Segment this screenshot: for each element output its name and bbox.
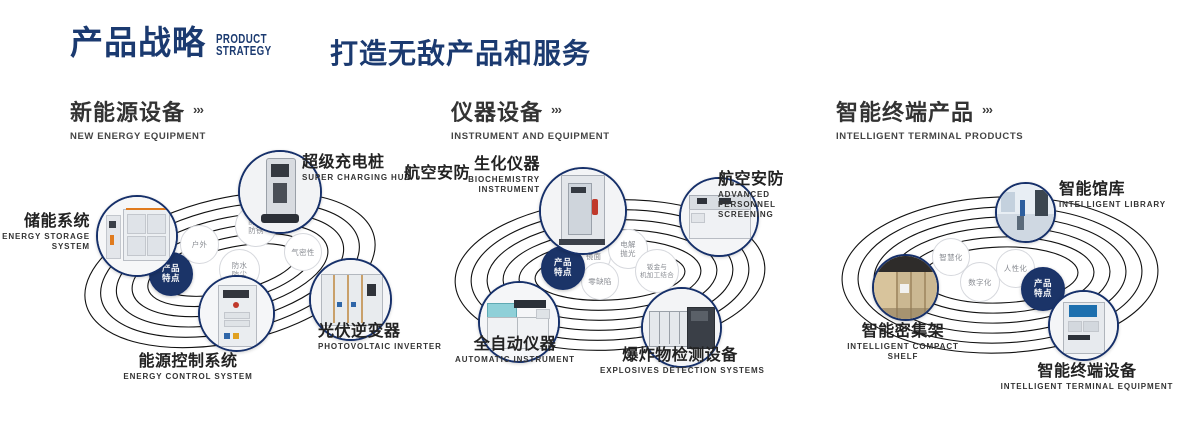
biochemistry-photo	[541, 169, 625, 253]
feature-bubble: 钣金与 机加工结合	[635, 249, 679, 293]
section-title-cn: 新能源设备	[70, 95, 185, 127]
node-intelligent-compact-shelf[interactable]	[872, 254, 939, 321]
library-photo	[997, 184, 1054, 241]
node-label-cn: 光伏逆变器	[318, 322, 442, 340]
label-super-charging-hub: 超级充电桩 SUPER CHARGING HUB	[302, 153, 411, 183]
node-label-en: AUTOMATIC INSTRUMENT	[425, 355, 605, 365]
page-subtitle: 打造无敌产品和服务	[330, 32, 591, 72]
node-label-cn: 智能密集架	[818, 322, 988, 340]
node-intelligent-terminal-equipment[interactable]	[1048, 290, 1119, 361]
feature-bubble-label: 智慧化	[939, 253, 962, 262]
feature-bubble-label: 数字化	[968, 278, 991, 287]
chevron-right-icon: ›››	[982, 102, 992, 117]
section-title-instrument: 仪器设备››› INSTRUMENT AND EQUIPMENT	[451, 95, 610, 142]
chevron-right-icon: ›››	[193, 102, 203, 117]
energy-control-photo	[200, 277, 273, 350]
section-title-cn: 仪器设备	[451, 95, 543, 127]
cluster-new-energy: 户外 防腐 防锈 气密性 防水 防尘 产品 特点 储能系统 ENERGY STO…	[55, 150, 405, 400]
label-intelligent-compact-shelf: 智能密集架 INTELLIGENT COMPACT SHELF	[818, 322, 988, 362]
page-title-en-line2: STRATEGY	[216, 44, 271, 58]
feature-bubble-label: 零缺陷	[588, 277, 611, 286]
feature-bubble: 数字化	[960, 262, 1000, 302]
label-energy-storage: 储能系统 ENERGY STORAGE SYSTEM	[0, 212, 90, 252]
label-automatic-instrument: 全自动仪器 AUTOMATIC INSTRUMENT	[425, 335, 605, 365]
label-advanced-personnel-screening: 航空安防 ADVANCED PERSONNEL SCREENING	[718, 170, 790, 220]
node-label-cn: 全自动仪器	[425, 335, 605, 353]
page-title-cn: 产品战略	[70, 26, 206, 59]
product-features-hub-label: 产品 特点	[554, 258, 572, 278]
node-label-en: INTELLIGENT TERMINAL EQUIPMENT	[987, 382, 1187, 392]
label-explosives-detection: 爆炸物检测设备 EXPLOSIVES DETECTION SYSTEMS	[600, 346, 760, 376]
section-title-new-energy: 新能源设备››› NEW ENERGY EQUIPMENT	[70, 95, 206, 142]
feature-bubble-label: 人性化	[1004, 264, 1027, 273]
label-aviation-security-aux: 航空安防	[400, 164, 470, 182]
node-label-en: SUPER CHARGING HUB	[302, 173, 411, 183]
feature-bubble-label: 钣金与 机加工结合	[640, 263, 674, 279]
cluster-instrument: 镜面 电解 抛光 钣金与 机加工结合 零缺陷 产品 特点 生化仪器 BIOCHE…	[430, 150, 790, 400]
compact-shelf-photo	[874, 256, 937, 319]
section-title-intelligent-terminal: 智能终端产品››› INTELLIGENT TERMINAL PRODUCTS	[836, 95, 1023, 142]
node-energy-storage[interactable]	[96, 195, 178, 277]
poster-canvas: 产品战略 PRODUCTSTRATEGY 打造无敌产品和服务 新能源设备››› …	[0, 0, 1200, 422]
node-label-cn: 智能馆库	[1059, 180, 1166, 198]
node-intelligent-library[interactable]	[995, 182, 1056, 243]
section-title-en: INTELLIGENT TERMINAL PRODUCTS	[836, 131, 1023, 142]
node-label-en: INTELLIGENT COMPACT SHELF	[818, 342, 988, 362]
node-label-en: ADVANCED PERSONNEL SCREENING	[718, 190, 790, 220]
label-intelligent-library: 智能馆库 INTELLIGENT LIBRARY	[1059, 180, 1166, 210]
chevron-right-icon: ›››	[551, 102, 561, 117]
node-label-cn: 航空安防	[718, 170, 790, 188]
label-intelligent-terminal-equipment: 智能终端设备 INTELLIGENT TERMINAL EQUIPMENT	[987, 362, 1187, 392]
label-photovoltaic-inverter: 光伏逆变器 PHOTOVOLTAIC INVERTER	[318, 322, 442, 352]
node-label-en: INTELLIGENT LIBRARY	[1059, 200, 1166, 210]
energy-storage-photo	[98, 197, 176, 275]
node-label-cn: 超级充电桩	[302, 153, 411, 171]
node-label-en: ENERGY STORAGE SYSTEM	[0, 232, 90, 252]
node-label-cn: 爆炸物检测设备	[600, 346, 760, 364]
node-label-en: PHOTOVOLTAIC INVERTER	[318, 342, 442, 352]
node-label-cn: 智能终端设备	[987, 362, 1187, 380]
feature-bubble-label: 户外	[192, 240, 208, 249]
node-label-en: ENERGY CONTROL SYSTEM	[88, 372, 288, 382]
aux-label-cn: 航空安防	[400, 164, 470, 182]
cluster-intelligent-terminal: 智慧化 数字化 人性化 产品 特点 智能馆库 INTELLIGENT LIBRA…	[815, 150, 1185, 400]
page-title: 产品战略 PRODUCTSTRATEGY	[70, 26, 287, 59]
node-label-cn: 能源控制系统	[88, 352, 288, 370]
terminal-equipment-photo	[1050, 292, 1117, 359]
feature-bubble: 零缺陷	[581, 262, 619, 300]
section-title-en: INSTRUMENT AND EQUIPMENT	[451, 131, 610, 142]
feature-bubble-label: 气密性	[291, 248, 314, 257]
node-energy-control-system[interactable]	[198, 275, 275, 352]
node-label-cn: 储能系统	[0, 212, 90, 230]
node-biochemistry-instrument[interactable]	[539, 167, 627, 255]
section-title-cn: 智能终端产品	[836, 95, 974, 127]
page-title-en: PRODUCTSTRATEGY	[216, 33, 271, 57]
section-title-en: NEW ENERGY EQUIPMENT	[70, 131, 206, 142]
node-label-en: EXPLOSIVES DETECTION SYSTEMS	[600, 366, 760, 376]
label-energy-control-system: 能源控制系统 ENERGY CONTROL SYSTEM	[88, 352, 288, 382]
